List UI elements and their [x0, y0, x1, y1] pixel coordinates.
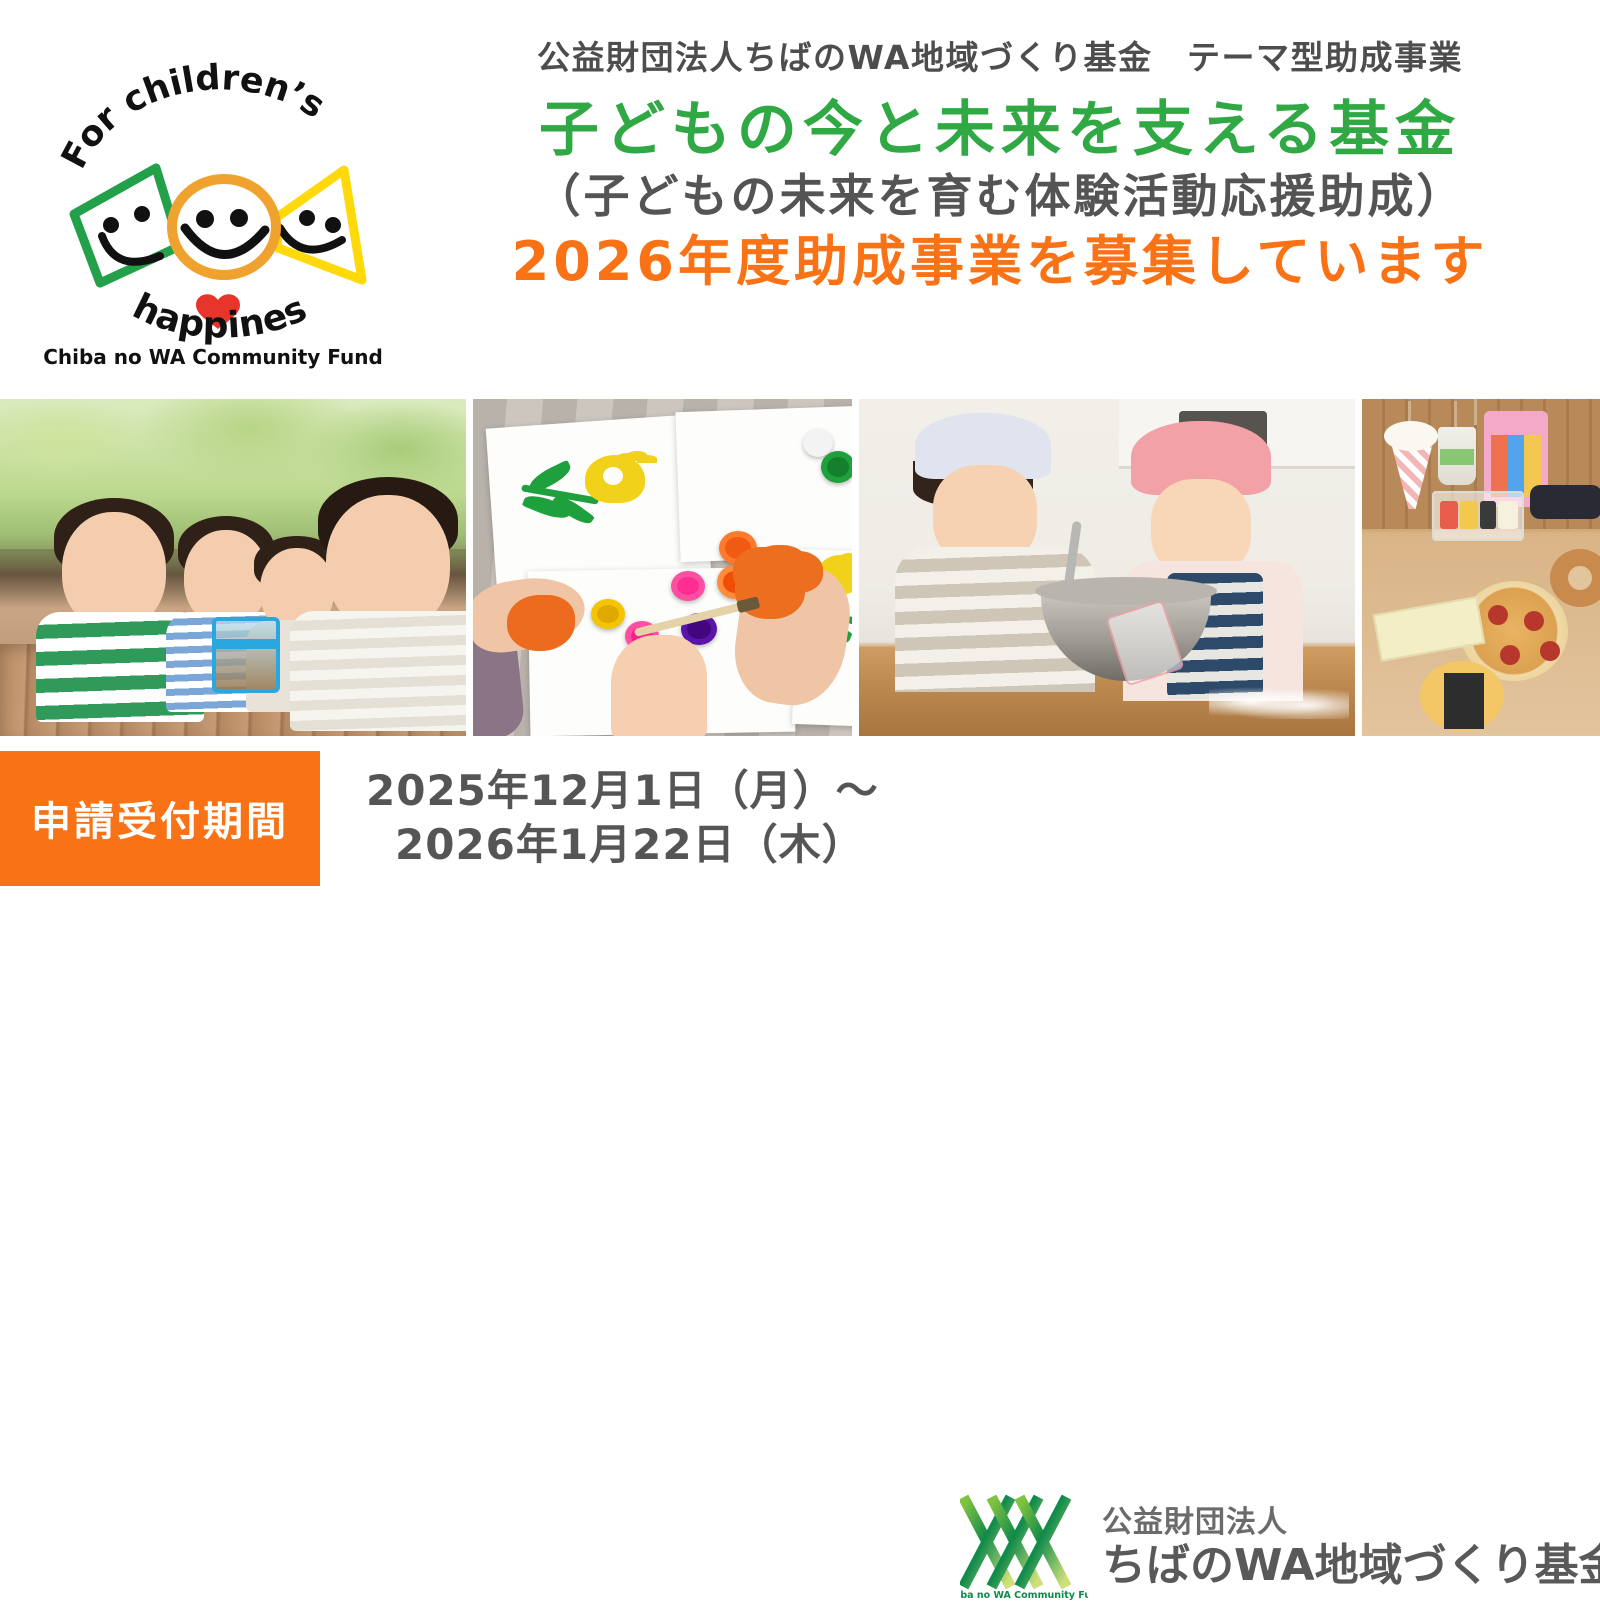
application-period-badge: 申請受付期間 [0, 751, 320, 886]
header-text-block: 公益財団法人ちばのWA地域づくり基金 テーマ型助成事業 子どもの今と未来を支える… [400, 0, 1600, 398]
photo-children-observing-insects [0, 399, 466, 736]
photo-craft-play-food-display [1362, 399, 1600, 736]
date-start: 2025年12月1日（月）〜 [366, 764, 879, 818]
photo-2-art [473, 399, 852, 736]
application-period-dates: 2025年12月1日（月）〜 2026年1月22日（木） [366, 764, 879, 872]
mark-caption: Chiba no WA Community Fund [960, 1590, 1088, 1601]
footer-organization-logo: Chiba no WA Community Fund 公益財団法人 ちばのWA地… [960, 1494, 1600, 1602]
logo-illustration: For children’s [28, 42, 398, 372]
for-childrens-happiness-logo: For children’s [28, 42, 398, 372]
call-to-action: 2026年度助成事業を募集しています [512, 232, 1489, 291]
application-period-label: 申請受付期間 [31, 789, 289, 847]
organization-line: 公益財団法人ちばのWA地域づくり基金 テーマ型助成事業 [537, 40, 1463, 76]
fund-subtitle: （子どもの未来を育む体験活動応援助成） [535, 171, 1466, 222]
banner-footer: 申請受付期間 2025年12月1日（月）〜 2026年1月22日（木） [0, 736, 1600, 900]
photo-3-art [859, 399, 1355, 736]
photo-1-art [0, 399, 466, 736]
photo-strip [0, 399, 1600, 736]
footer-org-name: ちばのWA地域づくり基金 [1102, 1541, 1600, 1590]
svg-text:For children’s: For children’s [54, 58, 332, 175]
logo-caption: Chiba no WA Community Fund [43, 345, 383, 369]
photo-children-cooking [859, 399, 1355, 736]
insect-case [212, 617, 280, 693]
photo-4-art [1362, 399, 1600, 736]
fund-title: 子どもの今と未来を支える基金 [539, 98, 1461, 163]
grant-announcement-banner: For children’s [0, 0, 1600, 900]
banner-header: For children’s [0, 0, 1600, 398]
date-end: 2026年1月22日（木） [395, 818, 879, 872]
logo-top-text: For children’s [54, 58, 332, 175]
photo-hand-painting-artwork [473, 399, 852, 736]
footer-organization-names: 公益財団法人 ちばのWA地域づくり基金 [1102, 1506, 1600, 1590]
chiba-no-wa-mark-icon: Chiba no WA Community Fund [960, 1494, 1088, 1602]
footer-org-prefix: 公益財団法人 [1102, 1506, 1600, 1541]
